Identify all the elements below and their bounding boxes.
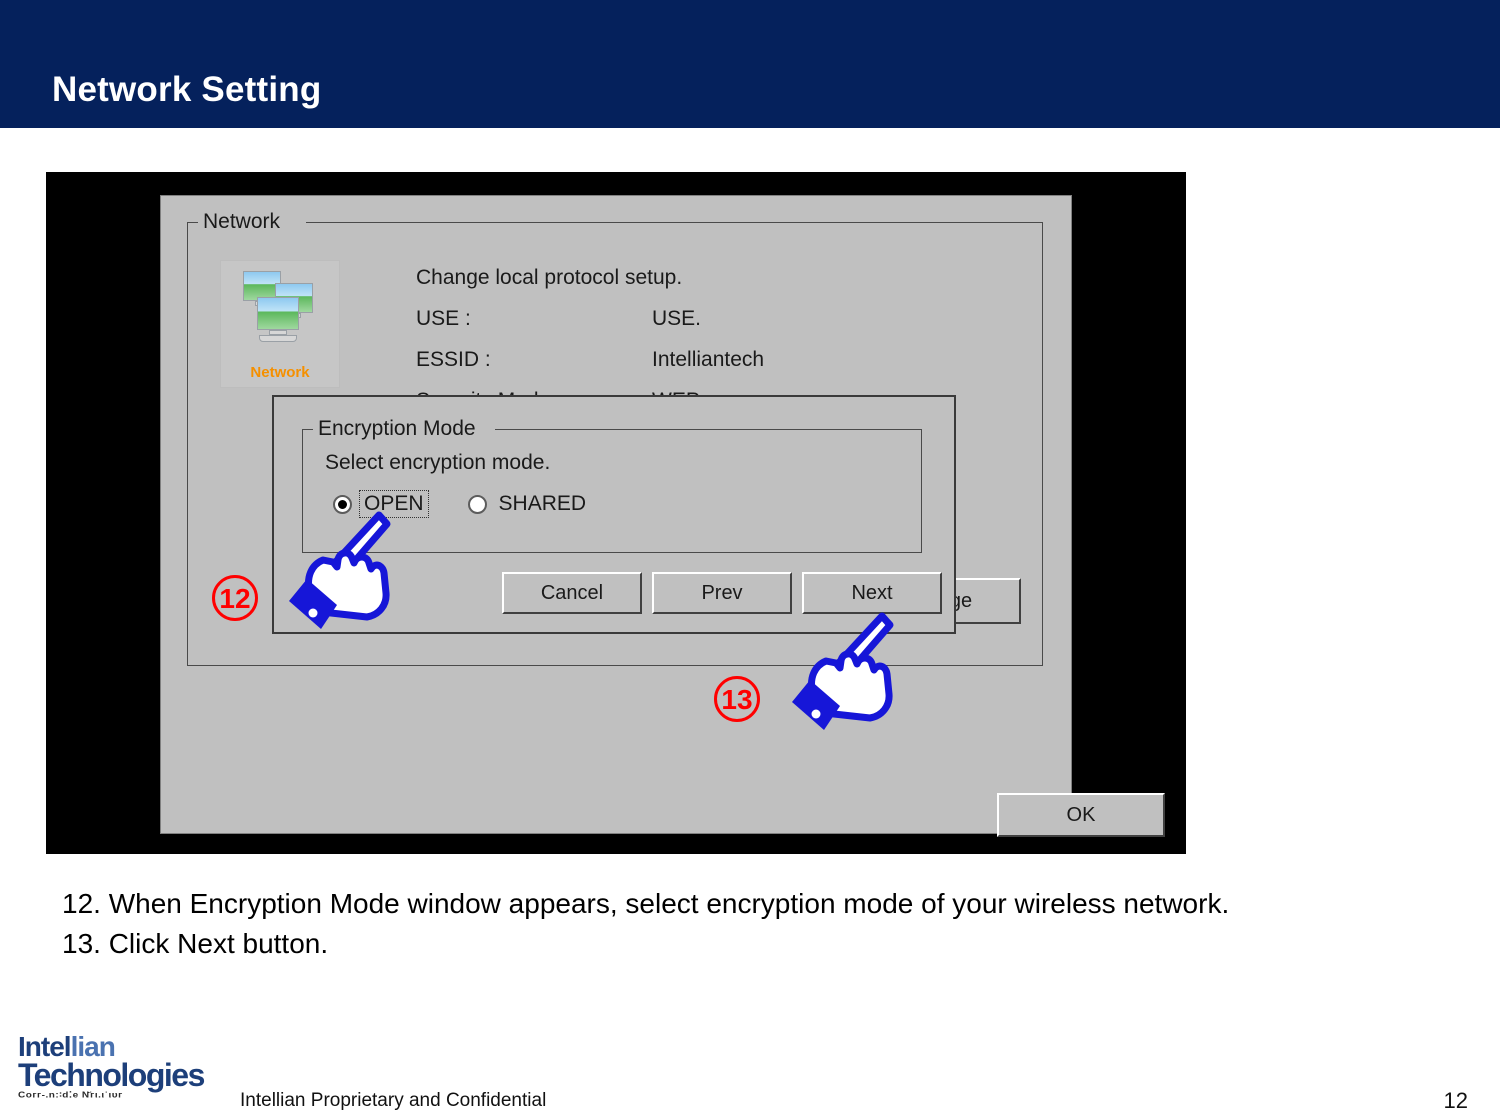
encryption-mode-legend: Encryption Mode <box>313 416 481 442</box>
groupbox-top-right-line <box>495 429 921 430</box>
callout-badge-12: 12 <box>212 575 258 621</box>
encryption-mode-prompt: Select encryption mode. <box>325 451 550 475</box>
logo-line-2: Technologies <box>18 1060 233 1090</box>
header-banner: Network Setting <box>0 0 1500 128</box>
info-row-essid: ESSID : Intelliantech <box>416 348 1016 372</box>
callout-badge-13: 13 <box>714 676 760 722</box>
page-title: Network Setting <box>52 70 321 110</box>
confidentiality-note: Intellian Proprietary and Confidential <box>240 1090 546 1112</box>
network-computers-icon <box>237 269 323 347</box>
caption-line-13: 13. Click Next button. <box>62 924 1402 964</box>
groupbox-top-left-line <box>303 429 313 430</box>
info-key: ESSID : <box>416 348 652 372</box>
cancel-button[interactable]: Cancel <box>502 572 642 614</box>
network-description: Change local protocol setup. <box>416 266 1016 290</box>
radio-shared-icon[interactable] <box>468 495 487 514</box>
info-key: USE : <box>416 307 652 331</box>
page-number: 12 <box>1444 1088 1468 1114</box>
caption-block: 12. When Encryption Mode window appears,… <box>62 884 1402 964</box>
pointer-hand-icon-12 <box>283 505 403 635</box>
info-value: Intelliantech <box>652 348 764 372</box>
info-row-use: USE : USE. <box>416 307 1016 331</box>
radio-shared-label[interactable]: SHARED <box>495 491 591 517</box>
groupbox-top-right-line <box>306 222 1042 223</box>
logo-tagline: Cοгг-.n:∶d⁚e Ν҃гι.ι˙ιυг <box>18 1090 233 1102</box>
intellian-logo: Intellian Technologies Cοгг-.n:∶d⁚e Ν҃гι… <box>18 1034 233 1104</box>
network-icon-label: Network <box>221 364 339 381</box>
info-value: USE. <box>652 307 701 331</box>
caption-line-12: 12. When Encryption Mode window appears,… <box>62 884 1402 924</box>
network-icon-panel: Network <box>220 260 340 388</box>
network-groupbox-legend: Network <box>198 209 285 235</box>
screenshot-frame: Network Network Cha <box>46 172 1186 854</box>
groupbox-top-left-line <box>188 222 198 223</box>
ok-button[interactable]: OK <box>997 793 1165 837</box>
prev-button[interactable]: Prev <box>652 572 792 614</box>
pointer-hand-icon-13 <box>786 606 906 736</box>
radio-option-shared[interactable]: SHARED <box>468 491 591 517</box>
